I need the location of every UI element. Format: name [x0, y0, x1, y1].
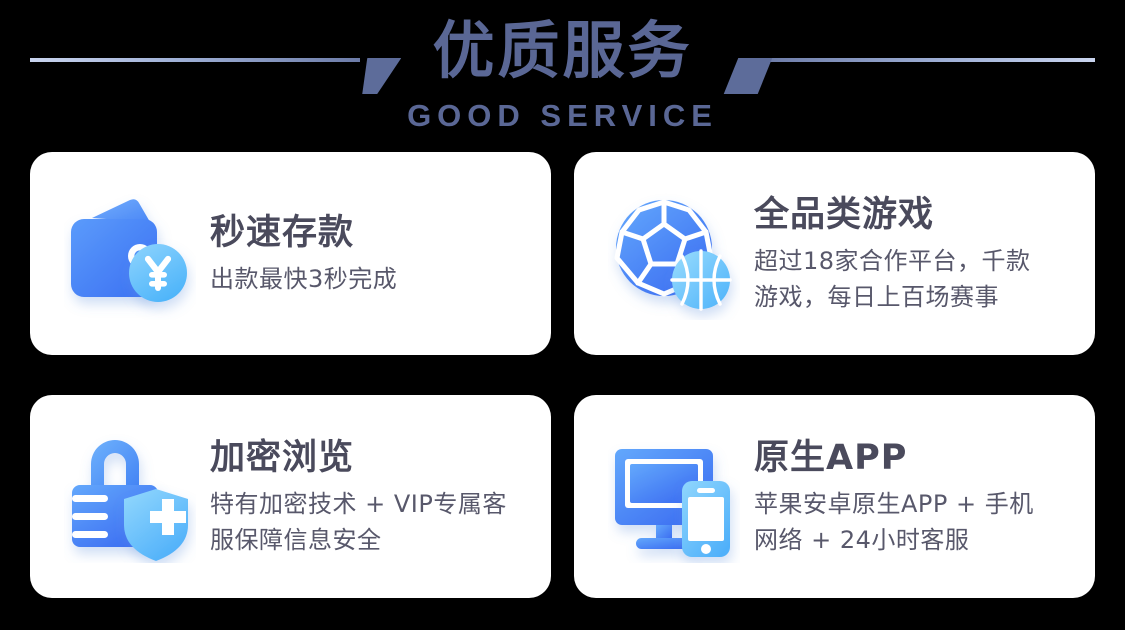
card-text-block: 原生APP 苹果安卓原生APP + 手机 网络 + 24小时客服 [754, 436, 1095, 558]
card-text-block: 秒速存款 出款最快3秒完成 [210, 211, 551, 297]
card-title: 原生APP [754, 436, 1081, 480]
card-text-block: 加密浏览 特有加密技术 + VIP专属客 服保障信息安全 [210, 436, 551, 558]
feature-card-native-app[interactable]: 原生APP 苹果安卓原生APP + 手机 网络 + 24小时客服 [574, 395, 1095, 598]
monitor-phone-icon [608, 431, 740, 563]
card-desc-line: 特有加密技术 + VIP专属客 [210, 486, 537, 522]
card-text-block: 全品类游戏 超过18家合作平台，千款 游戏，每日上百场赛事 [754, 193, 1095, 315]
card-desc-line: 超过18家合作平台，千款 [754, 243, 1081, 279]
card-desc-line: 网络 + 24小时客服 [754, 522, 1081, 558]
card-desc-line: 服保障信息安全 [210, 522, 537, 558]
banner-header: 优质服务 GOOD SERVICE [0, 0, 1125, 148]
card-description: 超过18家合作平台，千款 游戏，每日上百场赛事 [754, 243, 1081, 315]
feature-card-games[interactable]: 全品类游戏 超过18家合作平台，千款 游戏，每日上百场赛事 [574, 152, 1095, 355]
card-description: 出款最快3秒完成 [210, 261, 537, 297]
feature-card-deposit[interactable]: 秒速存款 出款最快3秒完成 [30, 152, 551, 355]
service-feature-banner: 优质服务 GOOD SERVICE [0, 0, 1125, 630]
soccer-basketball-icon [608, 188, 740, 320]
wallet-yen-icon [64, 188, 196, 320]
card-desc-line: 出款最快3秒完成 [210, 261, 537, 297]
card-title: 全品类游戏 [754, 193, 1081, 237]
page-title: 优质服务 [0, 12, 1125, 90]
card-description: 苹果安卓原生APP + 手机 网络 + 24小时客服 [754, 486, 1081, 558]
feature-card-grid: 秒速存款 出款最快3秒完成 [30, 152, 1095, 598]
card-desc-line: 游戏，每日上百场赛事 [754, 279, 1081, 315]
card-title: 秒速存款 [210, 211, 537, 255]
card-title: 加密浏览 [210, 436, 537, 480]
card-desc-line: 苹果安卓原生APP + 手机 [754, 486, 1081, 522]
card-description: 特有加密技术 + VIP专属客 服保障信息安全 [210, 486, 537, 558]
lock-shield-icon [64, 431, 196, 563]
feature-card-encryption[interactable]: 加密浏览 特有加密技术 + VIP专属客 服保障信息安全 [30, 395, 551, 598]
page-subtitle: GOOD SERVICE [0, 98, 1125, 134]
